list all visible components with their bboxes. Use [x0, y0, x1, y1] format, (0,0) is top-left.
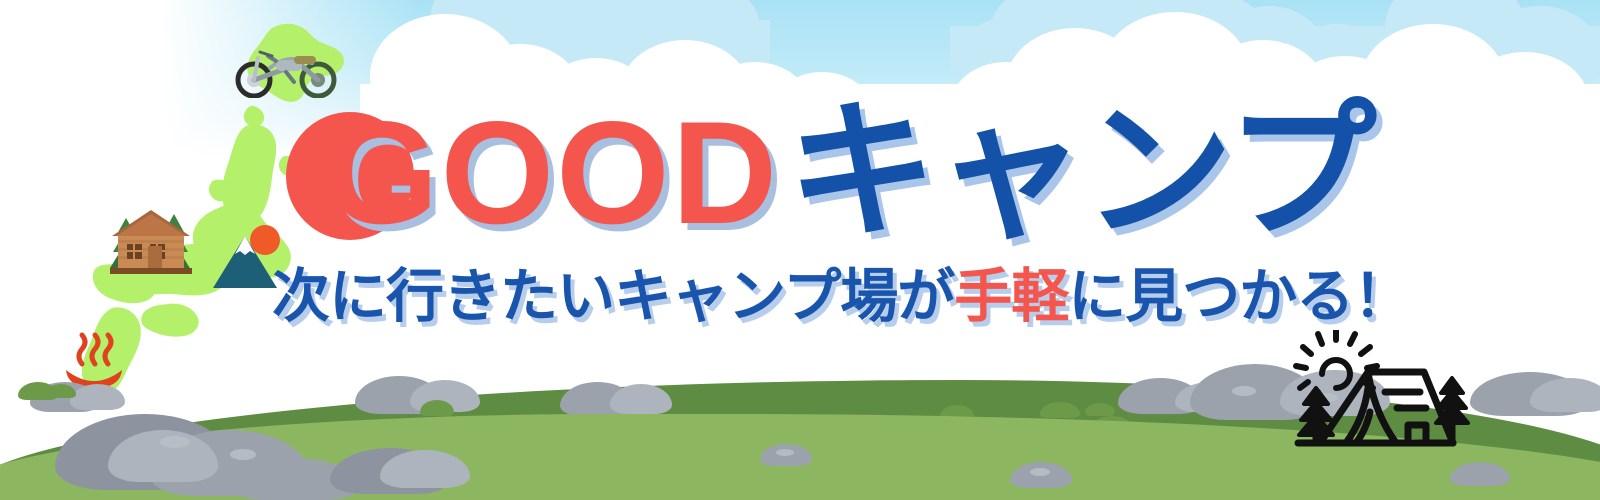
title-english: GOOD — [325, 91, 779, 254]
subtitle-highlight: 手軽 — [954, 264, 1068, 329]
page-subtitle: 次に行きたいキャンプ場が手軽に見つかる！ — [272, 266, 1410, 328]
camping-tent-icon — [1278, 330, 1488, 455]
title-japanese: キャンプ — [787, 87, 1375, 255]
camp-site-banner: GOODキャンプ 次に行きたいキャンプ場が手軽に見つかる！ — [0, 0, 1600, 500]
page-title: GOODキャンプ — [325, 96, 1375, 248]
subtitle-part-2: に見つかる！ — [1068, 264, 1410, 329]
subtitle-part-1: 次に行きたいキャンプ場が — [272, 264, 954, 329]
